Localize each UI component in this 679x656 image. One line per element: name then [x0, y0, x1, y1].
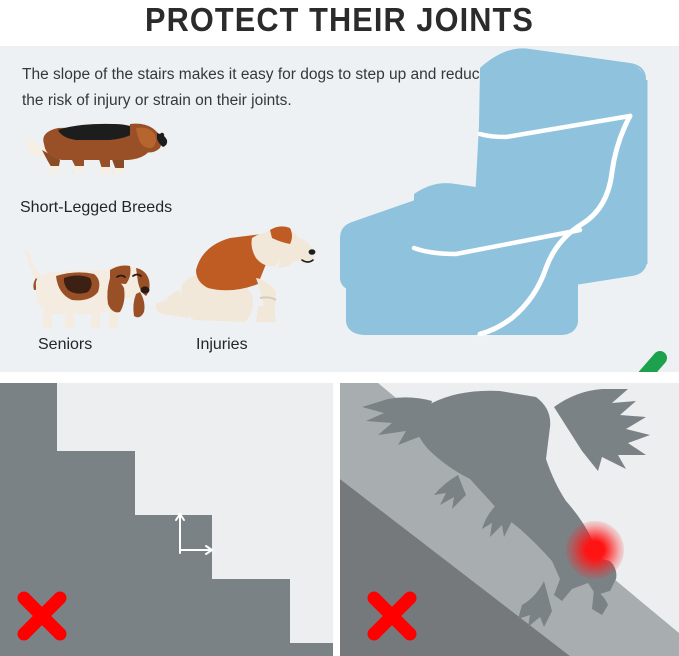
steep-stairs-panel: 90°	[0, 383, 333, 656]
sitting-dog-illustration	[152, 210, 328, 334]
joint-pain-glow-icon	[566, 521, 624, 579]
page-title: PROTECT THEIR JOINTS	[24, 0, 655, 40]
infographic-page: PROTECT THEIR JOINTS The slope of the st…	[0, 0, 679, 656]
benefits-panel: The slope of the stairs makes it easy fo…	[0, 46, 679, 372]
x-icon	[364, 588, 420, 644]
title-bar: PROTECT THEIR JOINTS	[0, 0, 679, 46]
pet-stairs-illustration	[330, 46, 679, 342]
ramp-jump-panel	[340, 383, 679, 656]
benefit-label-seniors: Seniors	[38, 336, 92, 354]
basset-hound-illustration	[14, 240, 154, 332]
x-icon	[14, 588, 70, 644]
benefit-label-injuries: Injuries	[196, 336, 248, 354]
check-icon	[592, 348, 668, 372]
benefit-label-short-legged-breeds: Short-Legged Breeds	[20, 199, 172, 217]
dachshund-illustration	[18, 102, 170, 180]
